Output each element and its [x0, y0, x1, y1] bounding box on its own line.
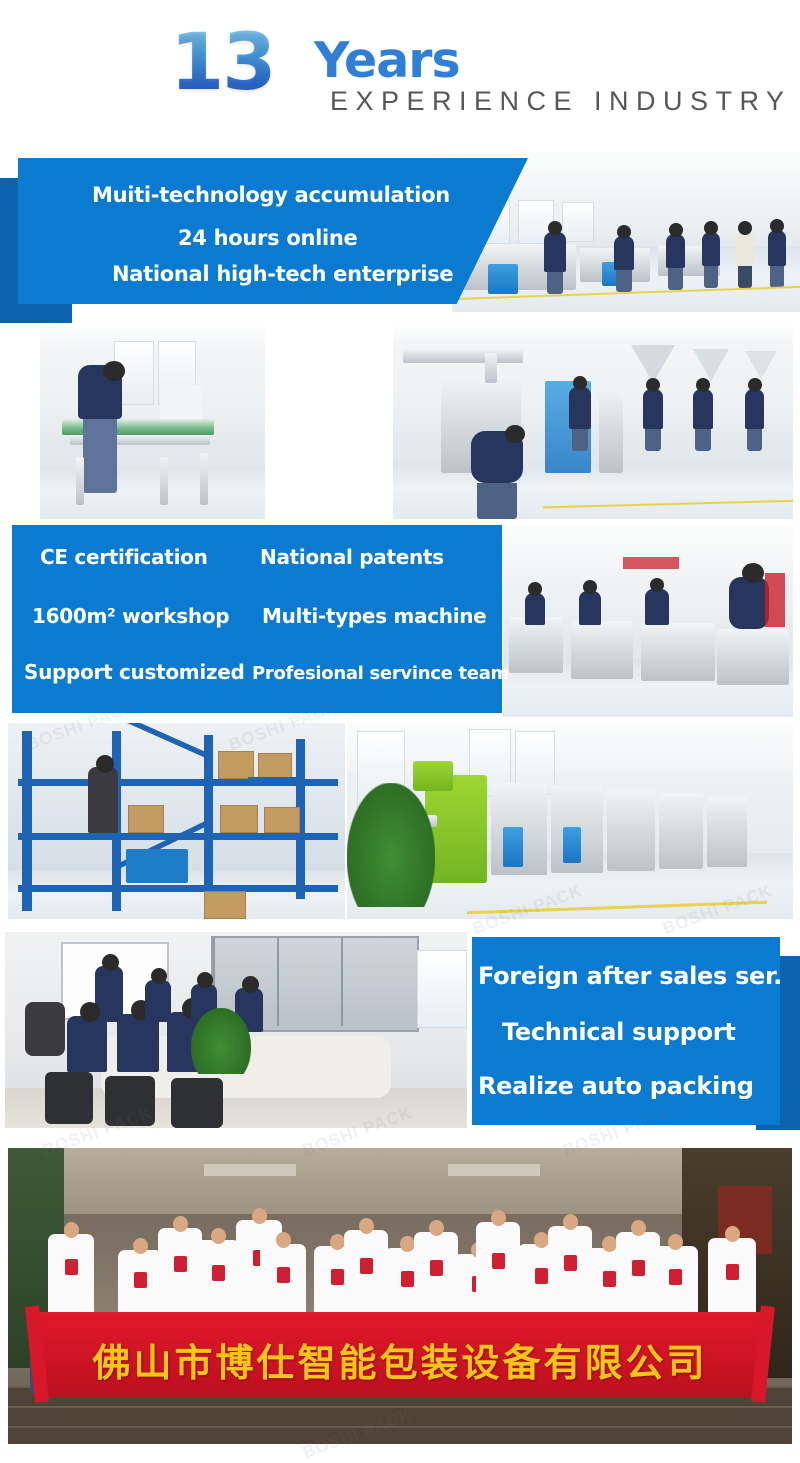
- panel-two-row-2-right: Multi-types machine: [262, 604, 486, 628]
- years-number: 13: [170, 24, 275, 102]
- photo-flow-wrapper-production-line: [347, 723, 793, 919]
- panel-two-row-2-left: 1600m² workshop: [32, 604, 229, 628]
- panel-three-line-2: Technical support: [502, 1018, 736, 1046]
- panel-one-line-2: 24 hours online: [178, 226, 358, 250]
- red-banner: 佛山市博仕智能包装设备有限公司: [38, 1312, 762, 1398]
- panel-two-row-3-right: Profesional servince team: [252, 663, 509, 684]
- years-word: Years: [314, 36, 460, 85]
- header: 13 Years EXPERIENCE INDUSTRY: [0, 0, 800, 140]
- panel-two-row-1-right: National patents: [260, 545, 444, 569]
- panel-two-row-1-left: CE certification: [40, 545, 208, 569]
- company-profile-banner: 13 Years EXPERIENCE INDUSTRY Muiti-techn…: [0, 0, 800, 1460]
- panel-one-line-3: National high-tech enterprise: [112, 262, 453, 286]
- panel-three-line-3: Realize auto packing: [478, 1072, 754, 1100]
- photo-team-meeting-room: [5, 932, 467, 1128]
- photo-engineer-assembling-conveyor: [40, 327, 265, 519]
- header-subtitle: EXPERIENCE INDUSTRY: [330, 86, 792, 117]
- banner-company-name: 佛山市博仕智能包装设备有限公司: [38, 1332, 762, 1387]
- photo-spare-parts-warehouse: [8, 723, 345, 919]
- panel-two-row-3-left: Support customized: [24, 660, 245, 684]
- panel-one-line-1: Muiti-technology accumulation: [92, 183, 450, 207]
- photo-vertical-packing-machine-line: [393, 327, 793, 519]
- panel-three-line-1: Foreign after sales ser.: [478, 962, 782, 990]
- photo-company-group-photo: 佛山市博仕智能包装设备有限公司: [8, 1148, 792, 1444]
- photo-machine-assembly-hall: [503, 525, 793, 717]
